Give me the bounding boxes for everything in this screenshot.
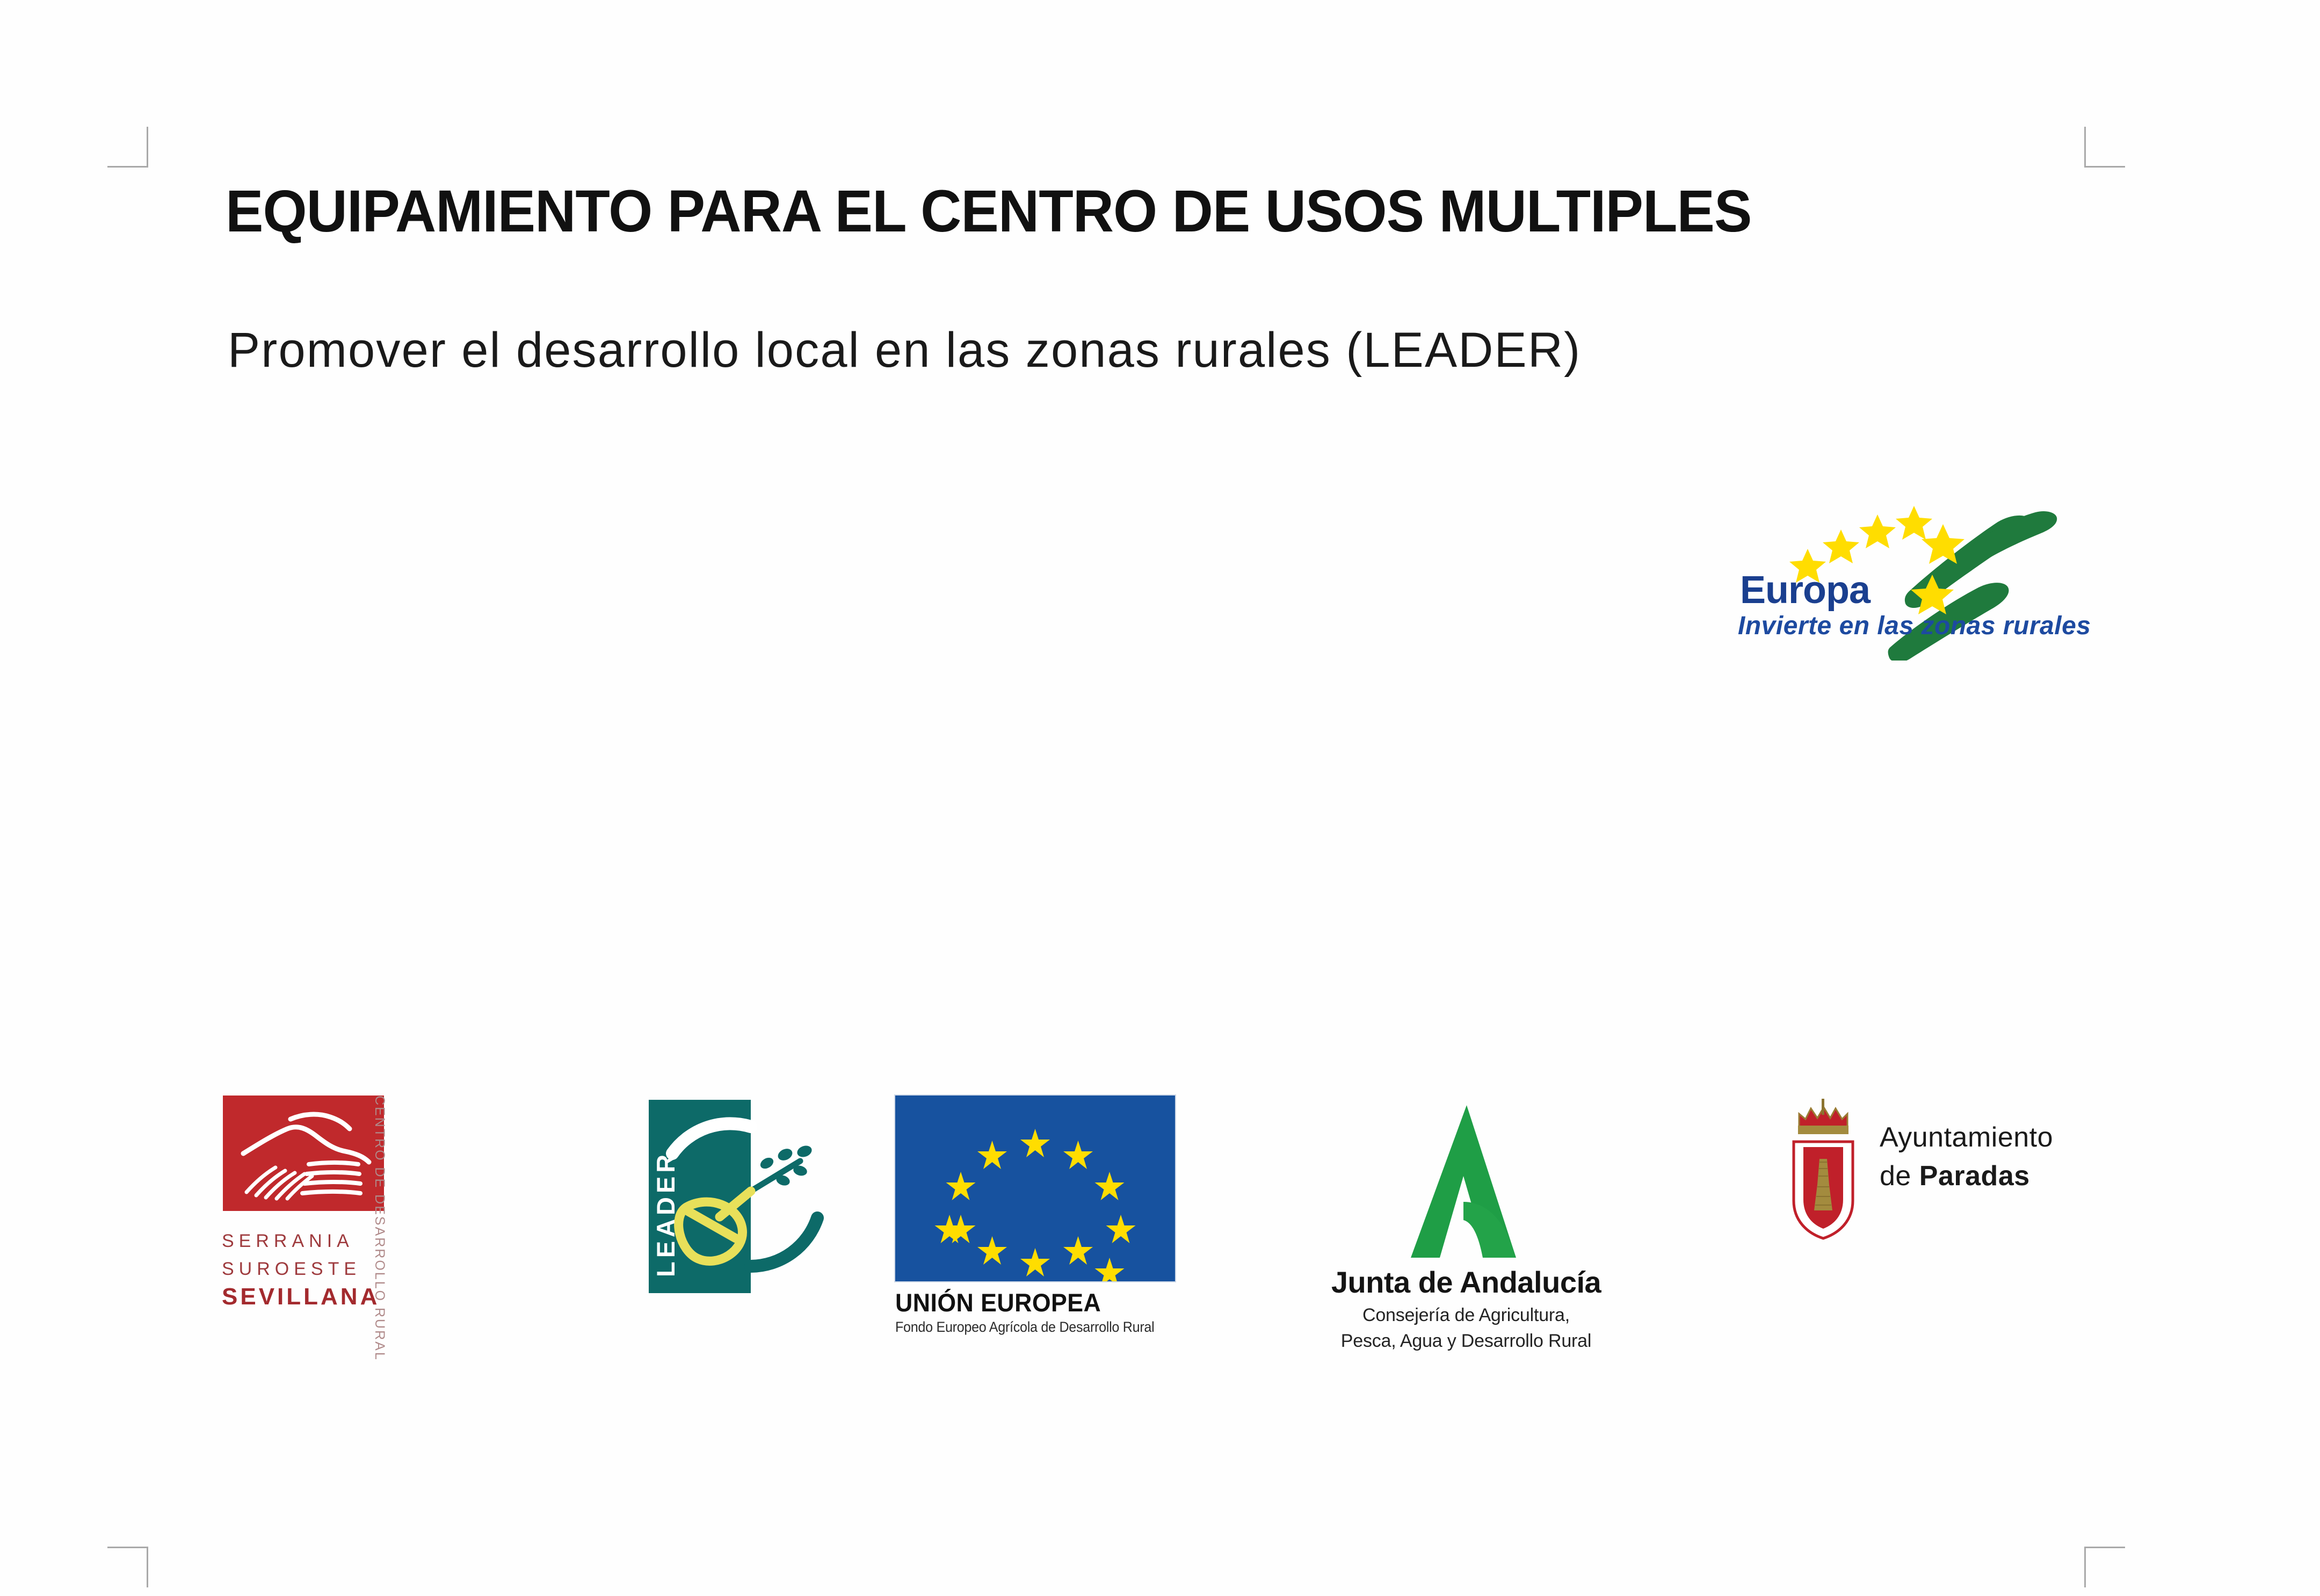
serrania-line1: SERRANIA (222, 1227, 388, 1255)
serrania-line2: SUROESTE (222, 1255, 388, 1283)
junta-consejeria-line2: Pesca, Agua y Desarrollo Rural (1294, 1331, 1638, 1352)
page-subtitle: Promover el desarrollo local en las zona… (228, 322, 1581, 379)
logo-ayuntamiento-de-paradas: Ayuntamiento de Paradas (1772, 1096, 2137, 1257)
paradas-coat-of-arms (1778, 1096, 1869, 1246)
logo-junta-de-andalucia: Junta de Andalucía Consejería de Agricul… (1294, 1090, 1638, 1343)
crop-mark-top-right (2084, 127, 2125, 168)
eu-flag-stars (895, 1096, 1175, 1281)
serrania-red-box (223, 1096, 384, 1211)
crop-mark-top-left (107, 127, 148, 168)
europa-tagline: Invierte en las zonas rurales (1738, 611, 2091, 641)
logo-leader: LEADER (639, 1094, 854, 1309)
logo-union-europea: UNIÓN EUROPEA Fondo Europeo Agrícola de … (894, 1094, 1195, 1341)
europa-wordmark: Europa (1740, 568, 1870, 612)
ayuntamiento-line1: Ayuntamiento (1880, 1121, 2053, 1154)
europa-feader-logo: Europa Invierte en las zonas rurales (1719, 483, 2073, 661)
feader-subcaption: Fondo Europeo Agrícola de Desarrollo Rur… (895, 1319, 1154, 1336)
logo-serrania-suroeste-sevillana: CENTRO DE DESARROLLO RURAL SERRANIA SURO… (218, 1096, 432, 1321)
crop-mark-bottom-right (2084, 1547, 2125, 1587)
svg-text:LEADER: LEADER (651, 1151, 680, 1277)
leader-vertical-label: LEADER (639, 1094, 843, 1298)
ayuntamiento-line2: de Paradas (1880, 1160, 2030, 1192)
junta-a-mark (1378, 1101, 1555, 1262)
paradas-crown (1798, 1099, 1848, 1134)
serrania-line3: SEVILLANA (222, 1283, 388, 1311)
serrania-landscape-icon (223, 1096, 384, 1211)
paradas-shield (1794, 1142, 1853, 1238)
sponsor-logo-strip: CENTRO DE DESARROLLO RURAL SERRANIA SURO… (0, 1079, 2320, 1359)
crop-mark-bottom-left (107, 1547, 148, 1587)
ayuntamiento-paradas: Paradas (1919, 1160, 2030, 1192)
junta-name: Junta de Andalucía (1294, 1265, 1638, 1300)
serrania-name-block: SERRANIA SUROESTE SEVILLANA (222, 1227, 388, 1311)
junta-consejeria-line1: Consejería de Agricultura, (1294, 1305, 1638, 1326)
ayuntamiento-de: de (1880, 1160, 1919, 1192)
eu-flag (894, 1094, 1176, 1282)
union-europea-caption: UNIÓN EUROPEA (895, 1288, 1101, 1317)
page-title: EQUIPAMIENTO PARA EL CENTRO DE USOS MULT… (226, 177, 1751, 245)
